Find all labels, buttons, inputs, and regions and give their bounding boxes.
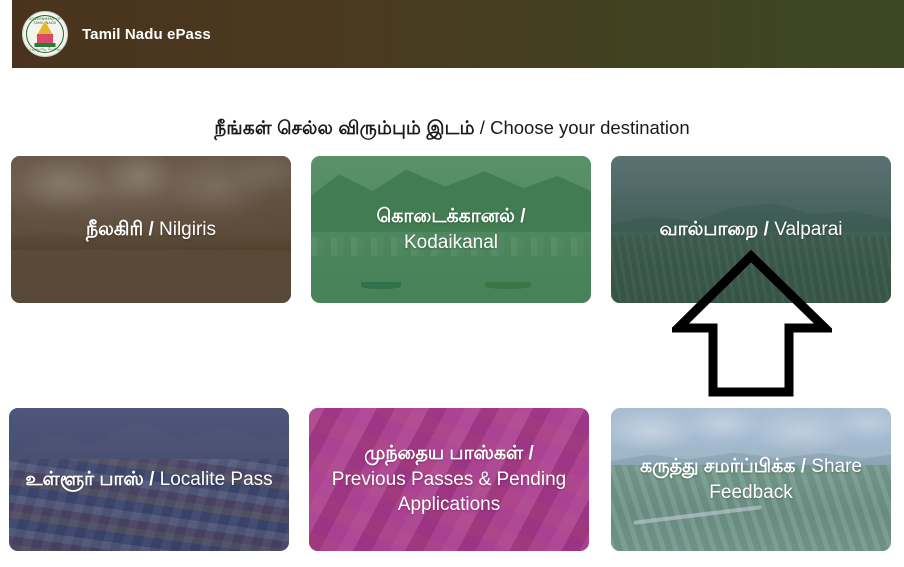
destination-card-share-feedback[interactable]: கருத்து சமர்ப்பிக்க / Share Feedback — [611, 408, 891, 551]
tamil-nadu-government-emblem-icon: GOVERNMENT OF TAMIL NADU வாய்மையே வெல்லு… — [22, 11, 68, 57]
app-brand-title: Tamil Nadu ePass — [82, 26, 211, 43]
card-label-tamil: உள்ளூர் பாஸ் / — [25, 469, 159, 490]
destination-card-label: கருத்து சமர்ப்பிக்க / Share Feedback — [611, 454, 891, 505]
destination-card-localite-pass[interactable]: உள்ளூர் பாஸ் / Localite Pass — [9, 408, 289, 551]
page-title: நீங்கள் செல்ல விரும்பும் இடம் / Choose y… — [0, 117, 904, 141]
card-label-english: Localite Pass — [160, 469, 273, 490]
destination-card-label: உள்ளூர் பாஸ் / Localite Pass — [9, 467, 288, 493]
destination-card-valparai[interactable]: வால்பாறை / Valparai — [611, 156, 891, 303]
page-title-tamil: நீங்கள் செல்ல விரும்பும் இடம் — [214, 117, 474, 138]
destination-card-label: வால்பாறை / Valparai — [643, 217, 858, 243]
emblem-bottom-text: வாய்மையே வெல்லும் — [23, 47, 67, 52]
card-label-tamil: கருத்து சமர்ப்பிக்க / — [640, 456, 811, 477]
card-label-english: Previous Passes & Pending Applications — [332, 469, 566, 516]
card-label-english: Nilgiris — [159, 219, 216, 240]
card-label-tamil: நீலகிரி / — [86, 219, 159, 240]
destination-card-previous-passes[interactable]: முந்தைய பாஸ்கள் / Previous Passes & Pend… — [309, 408, 589, 551]
page-title-english: Choose your destination — [490, 117, 690, 138]
card-label-tamil: வால்பாறை / — [659, 219, 774, 240]
card-label-tamil: முந்தைய பாஸ்கள் / — [364, 443, 534, 464]
card-label-english: Valparai — [774, 219, 842, 240]
card-label-english: Kodaikanal — [404, 232, 498, 253]
card-label-tamil: கொடைக்கானல் / — [377, 206, 526, 227]
destination-card-kodaikanal[interactable]: கொடைக்கானல் / Kodaikanal — [311, 156, 591, 303]
destination-card-label: முந்தைய பாஸ்கள் / Previous Passes & Pend… — [309, 441, 589, 518]
destination-card-nilgiris[interactable]: நீலகிரி / Nilgiris — [11, 156, 291, 303]
page-title-separator: / — [475, 117, 490, 138]
epass-destination-page: GOVERNMENT OF TAMIL NADU வாய்மையே வெல்லு… — [0, 0, 904, 567]
app-header: GOVERNMENT OF TAMIL NADU வாய்மையே வெல்லு… — [12, 0, 904, 68]
destination-card-label: நீலகிரி / Nilgiris — [70, 217, 232, 243]
emblem-gopuram-base-icon — [37, 34, 53, 43]
destination-card-label: கொடைக்கானல் / Kodaikanal — [311, 204, 591, 255]
